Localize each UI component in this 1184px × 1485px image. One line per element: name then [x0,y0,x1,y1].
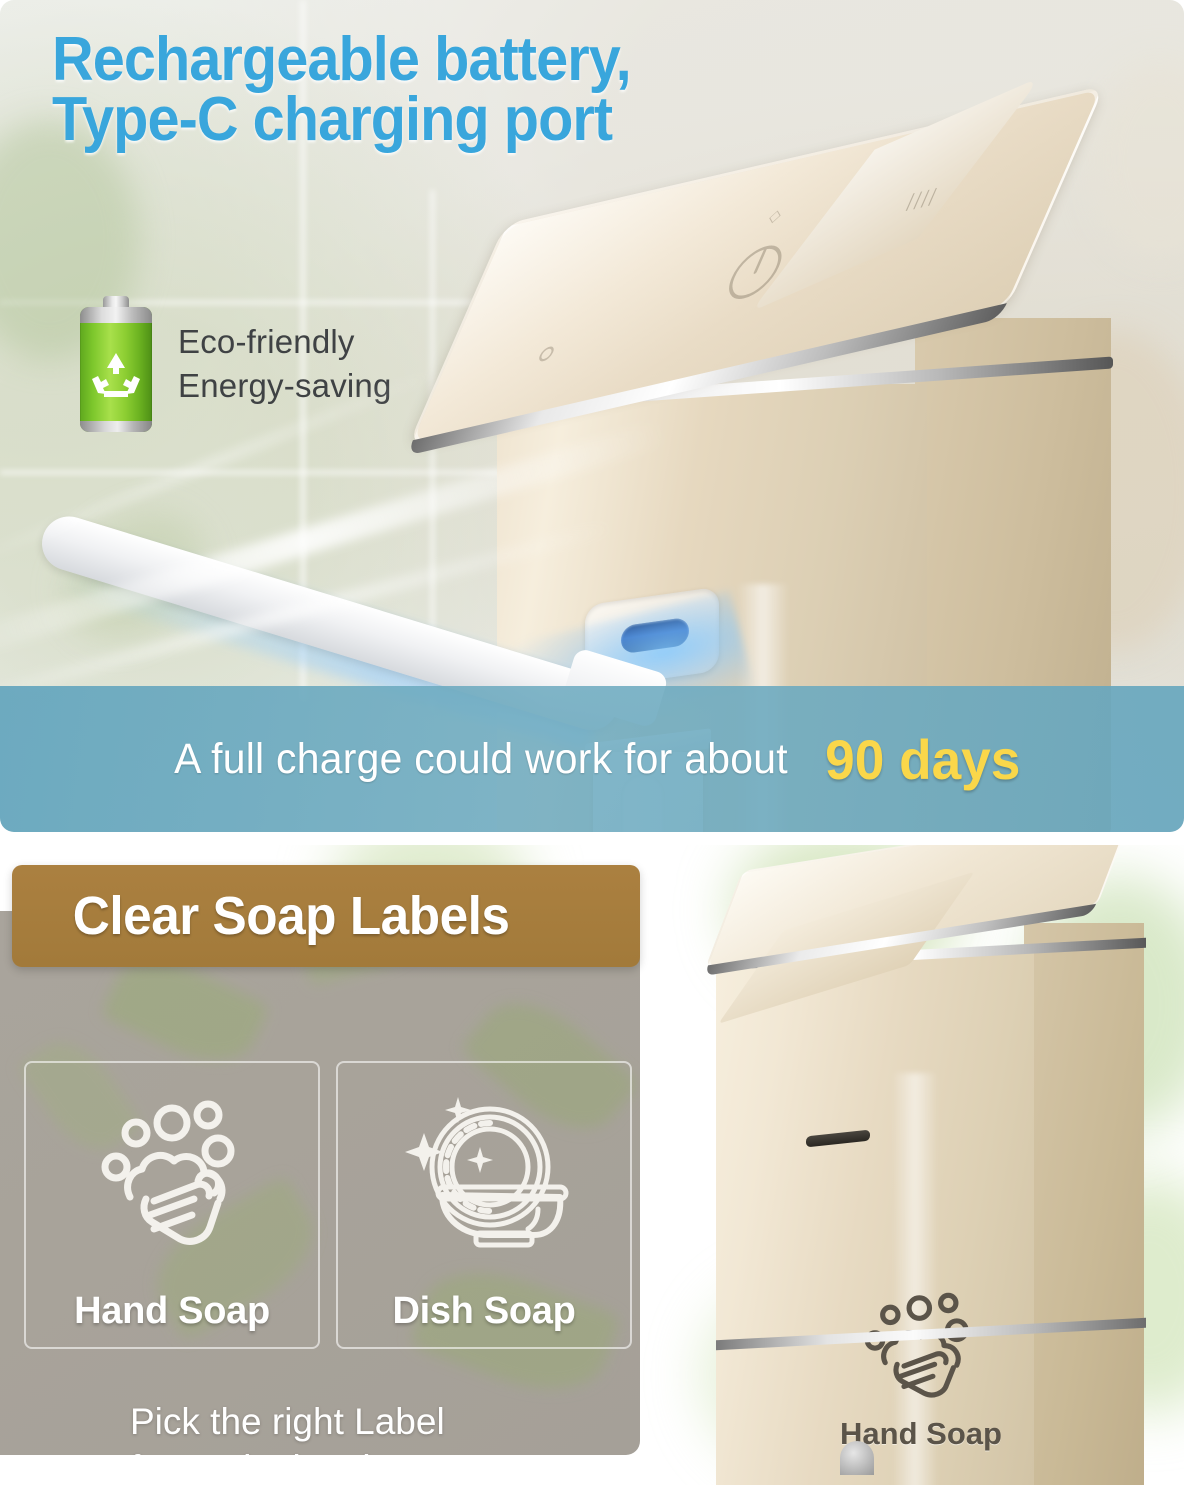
eco-feature-text: Eco-friendly Energy-saving [178,320,392,407]
soap-label-card-dish: Dish Soap [336,1061,632,1349]
soap-label-card-hand-text: Hand Soap [74,1290,270,1333]
green-battery-recycle-icon [80,296,152,432]
soap-label-card-dish-text: Dish Soap [392,1290,575,1333]
page-headline: Rechargeable battery,Type-C charging por… [52,30,796,149]
clear-soap-labels-header: Clear Soap Labels [12,865,640,967]
soap-labels-card: Hand Soap [0,911,640,1455]
pick-label-caption-line-1: Pick the right Label [130,1398,445,1445]
soap-dispenser-product-image-bottom: Hand Soap [700,845,1180,1485]
dish-plate-bowl-sparkle-icon [338,1089,630,1265]
pick-label-caption: Pick the right Label for each situation [130,1398,445,1455]
battery-life-banner: A full charge could work for about 90 da… [0,686,1184,832]
printed-hand-soap-label: Hand Soap [816,1289,1026,1452]
battery-body [80,307,152,432]
hand-washing-bubbles-icon [846,1289,996,1409]
rechargeable-battery-panel: Rechargeable battery,Type-C charging por… [0,0,1184,832]
dispenser-front-face: Hand Soap [716,953,1034,1485]
droplet-indicator-icon: ◇ [765,204,785,227]
dispenser-nozzle-slot [806,1130,870,1148]
background-tile-seam [0,470,500,475]
hand-washing-bubbles-icon [26,1089,318,1265]
soap-label-card-list: Hand Soap [24,1061,632,1349]
clear-soap-labels-panel: Hand Soap [0,845,1184,1485]
soap-label-card-hand: Hand Soap [24,1061,320,1349]
eco-line-1: Eco-friendly [178,320,392,364]
sensor-indicator-icon [537,345,556,362]
dispenser-side-face [1024,923,1144,1485]
banner-accent-text: 90 days [825,727,1020,792]
dispenser-foot [840,1441,874,1475]
pick-label-caption-line-2: for each situation [130,1445,445,1455]
recycle-symbol-icon [90,351,142,399]
clear-soap-labels-title: Clear Soap Labels [12,885,510,947]
banner-text: A full charge could work for about [174,735,788,784]
headline-line-2: Type-C charging port [52,85,612,154]
